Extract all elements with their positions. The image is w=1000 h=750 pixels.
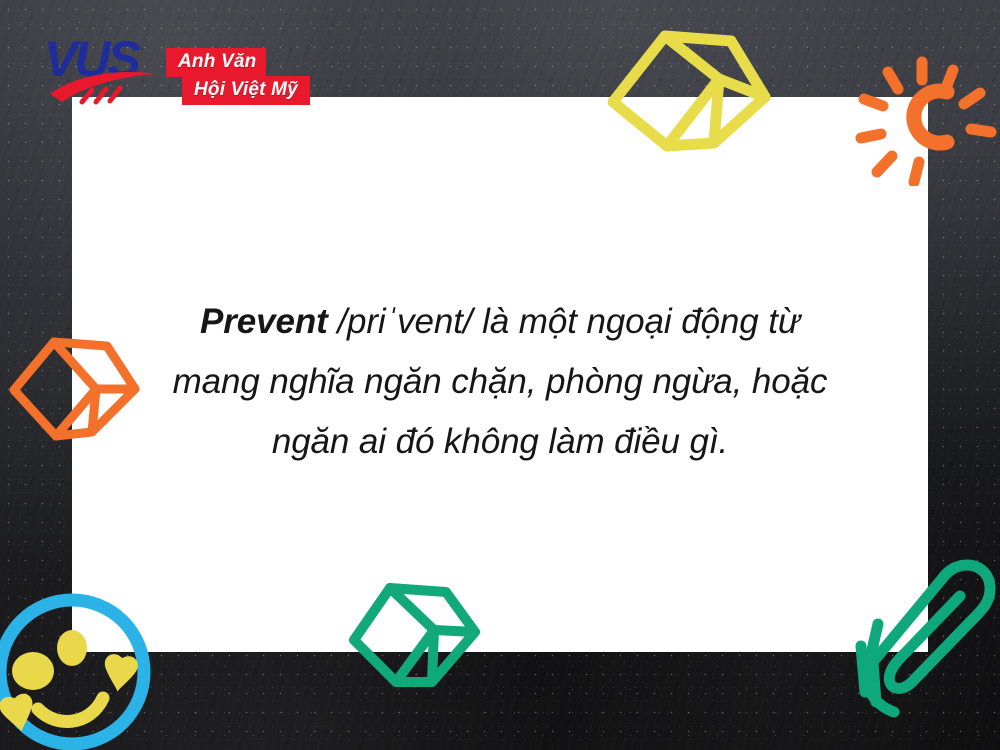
smiley-heart-eyes-icon bbox=[0, 576, 162, 750]
definition-line-2: mang nghĩa ngăn chặn, phòng ngừa, hoặc bbox=[72, 352, 928, 412]
cube-outline-icon-green bbox=[348, 578, 484, 700]
vus-logo: VUS Anh Văn Hội Việt Mỹ bbox=[44, 32, 324, 112]
cube-outline-icon-yellow bbox=[606, 24, 772, 160]
definition-line-1-rest: là một ngoại động từ bbox=[472, 302, 800, 341]
vus-logo-mark: VUS bbox=[44, 32, 168, 106]
definition-text-block: Prevent /priˈvent/ là một ngoại động từ … bbox=[72, 292, 928, 472]
logo-tagline-line2: Hội Việt Mỹ bbox=[182, 76, 310, 105]
headword: Prevent bbox=[200, 302, 328, 341]
sun-c-icon-orange bbox=[852, 46, 1000, 186]
slide-canvas: VUS Anh Văn Hội Việt Mỹ Prevent /priˈven… bbox=[0, 0, 1000, 750]
paperclip-icon-green bbox=[842, 552, 1000, 722]
definition-line-1: Prevent /priˈvent/ là một ngoại động từ bbox=[72, 292, 928, 352]
ipa-pronunciation: /priˈvent/ bbox=[328, 302, 473, 341]
ipa-value: /priˈvent/ bbox=[337, 302, 472, 341]
logo-tagline-line1: Anh Văn bbox=[166, 48, 266, 77]
definition-line-3: ngăn ai đó không làm điều gì. bbox=[72, 412, 928, 472]
